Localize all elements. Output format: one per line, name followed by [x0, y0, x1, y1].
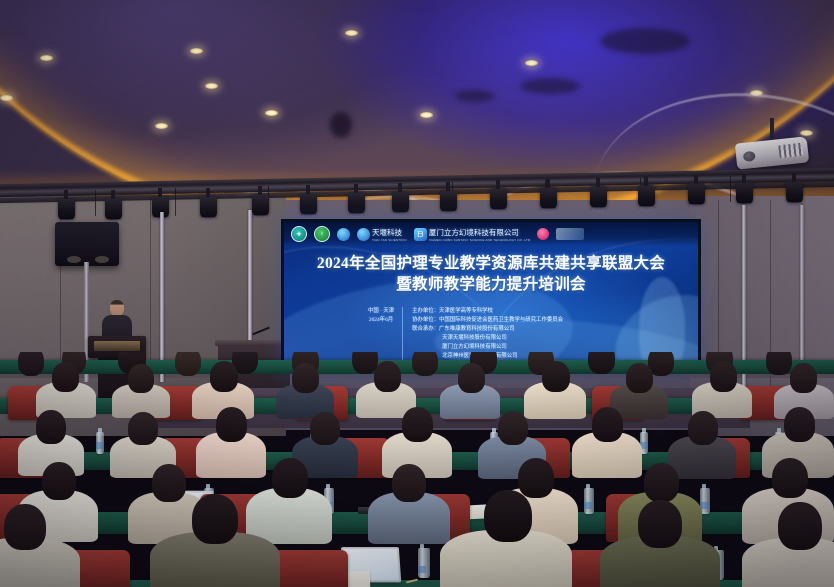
- attendee-head: [688, 411, 718, 445]
- water-bottle: [584, 488, 594, 514]
- attendee-head: [784, 407, 815, 442]
- cubic-fantasy-logo-label: 厦门立方幻境科技有限公司 XIAMEN CUBIC FANTASY SCIENC…: [429, 227, 530, 242]
- attendee-head: [310, 412, 340, 445]
- stage-light: [688, 183, 705, 205]
- organizer-coorganizer: 协办单位：中国国际科技促进会医药卫生教学与研究工作委员会: [412, 316, 563, 325]
- attendee-head: [392, 464, 426, 502]
- attendee-head: [402, 407, 433, 442]
- event-title-line2: 暨教师教学能力提升培训会: [284, 274, 698, 295]
- cubic-fantasy-mark-icon: ᗷ: [414, 228, 427, 241]
- ceiling-shadow: [600, 28, 690, 54]
- partner-pink-logo-icon: [537, 228, 549, 240]
- school-emblem-green-icon: ♁: [314, 226, 330, 242]
- ceiling-shadow: [520, 78, 580, 94]
- attendee-head: [458, 363, 485, 393]
- ceiling-spotlight: [525, 60, 538, 66]
- cubic-fantasy-logo: ᗷ 厦门立方幻境科技有限公司 XIAMEN CUBIC FANTASY SCIE…: [414, 227, 530, 242]
- stage-light: [540, 187, 557, 209]
- attendee-head: [778, 502, 822, 550]
- attendee-head: [128, 412, 158, 445]
- ceiling-shadow: [455, 90, 495, 102]
- event-title: 2024年全国护理专业教学资源库共建共享联盟大会 暨教师教学能力提升培训会: [284, 253, 698, 295]
- attendee-head: [18, 352, 44, 376]
- ceiling-spotlight: [265, 110, 278, 116]
- stage-light: [392, 191, 409, 213]
- led-screen: ✚ ♁ 天堰科技 TIAN YAN SCIENTIFIC ᗷ 厦门立方幻境科技有…: [284, 222, 698, 371]
- stage-light: [58, 198, 75, 220]
- ceiling-spotlight: [420, 112, 433, 118]
- stage-light: [590, 186, 607, 208]
- stage-light: [490, 188, 507, 210]
- ceiling-spotlight: [190, 48, 203, 54]
- attendee-head: [644, 463, 679, 502]
- stage-light: [736, 182, 753, 204]
- attendee-head: [152, 464, 186, 502]
- water-bottle: [418, 548, 430, 578]
- stage-light: [300, 193, 317, 215]
- presenter-head: [110, 300, 124, 316]
- stage-light: [786, 181, 803, 203]
- projector-vent: [778, 143, 803, 158]
- sponsor-logo-strip: ✚ ♁ 天堰科技 TIAN YAN SCIENTIFIC ᗷ 厦门立方幻境科技有…: [284, 222, 698, 246]
- attendee-head: [216, 407, 247, 442]
- projector-lens-icon: [743, 151, 756, 162]
- stage-light: [348, 192, 365, 214]
- ceiling-fixture: [330, 112, 352, 138]
- stage-light: [105, 198, 122, 220]
- ceiling-spotlight: [0, 95, 13, 101]
- ceiling-spotlight: [205, 83, 218, 89]
- attendee-head: [36, 410, 66, 444]
- tianyan-logo-label: 天堰科技 TIAN YAN SCIENTIFIC: [372, 227, 407, 242]
- attendee-head: [292, 363, 319, 393]
- ceiling-spotlight: [155, 123, 168, 129]
- attendee-head: [542, 361, 570, 392]
- tianyan-logo: 天堰科技 TIAN YAN SCIENTIFIC: [357, 227, 407, 242]
- stage-light: [638, 185, 655, 207]
- organizer-host: 主办单位：天津医学高等专科学校: [412, 307, 563, 316]
- speaker-cone: [67, 256, 81, 263]
- lectern-nameplate: [94, 341, 140, 351]
- attendee-head: [175, 352, 201, 376]
- attendee-head: [710, 361, 737, 392]
- speaker-cone: [95, 256, 109, 263]
- attendee-head: [766, 352, 792, 375]
- school-emblem-teal-icon: ✚: [291, 226, 307, 242]
- stage-light: [200, 196, 217, 218]
- attendee-head: [518, 458, 554, 498]
- pa-speaker: [55, 222, 119, 266]
- partner-wave-logo-icon: [556, 228, 584, 240]
- attendee-head: [498, 411, 528, 445]
- attendee-head: [772, 458, 808, 498]
- tianyan-mark-icon: [357, 228, 370, 241]
- attendee-head: [52, 362, 79, 392]
- lamp-cable: [730, 176, 731, 202]
- ceiling-spotlight: [40, 55, 53, 61]
- attendee-head: [638, 500, 682, 548]
- lamp-cable: [95, 190, 96, 216]
- attendee-head: [374, 361, 401, 392]
- csp-emblem-icon: [337, 228, 350, 241]
- audience-area: [0, 352, 834, 587]
- organizer-undertaker: 联合承办：广东唯康教育科技股份有限公司: [412, 325, 563, 334]
- event-date: 2024年6月: [368, 316, 394, 325]
- organizer-partner-1: 天津天堰科技股份有限公司: [412, 334, 563, 343]
- attendee-head: [42, 462, 76, 500]
- attendee-head: [4, 504, 46, 550]
- attendee-head: [592, 407, 623, 442]
- attendee-head: [484, 490, 532, 542]
- event-location: 中国 · 天津: [368, 307, 394, 316]
- attendee-head: [272, 458, 308, 498]
- attendee-head: [588, 352, 615, 374]
- conference-hall-photo: ✚ ♁ 天堰科技 TIAN YAN SCIENTIFIC ᗷ 厦门立方幻境科技有…: [0, 0, 834, 587]
- event-title-line1: 2024年全国护理专业教学资源库共建共享联盟大会: [284, 253, 698, 274]
- water-bottle: [96, 432, 104, 454]
- ceiling-spotlight: [345, 30, 358, 36]
- attendee-head: [626, 363, 653, 393]
- organizer-partner-2: 厦门立方幻境科技有限公司: [412, 343, 563, 352]
- lamp-cable: [175, 188, 176, 216]
- truss-support-pole: [248, 210, 252, 360]
- attendee-head: [412, 352, 438, 376]
- stage-light: [440, 190, 457, 212]
- stage-light: [252, 194, 269, 216]
- led-screen-frame: ✚ ♁ 天堰科技 TIAN YAN SCIENTIFIC ᗷ 厦门立方幻境科技有…: [281, 219, 701, 374]
- attendee-head: [790, 363, 817, 393]
- attendee-head: [210, 361, 238, 392]
- attendee-head: [192, 494, 238, 544]
- attendee-head: [128, 364, 154, 393]
